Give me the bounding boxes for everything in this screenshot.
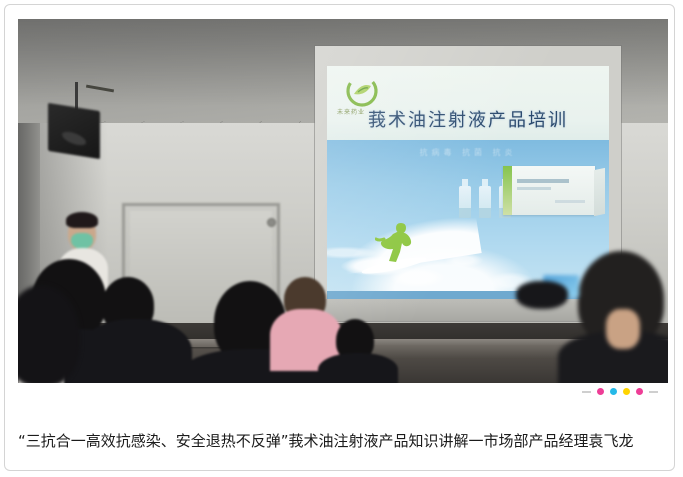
phone-holding-hand bbox=[516, 281, 568, 309]
carousel-pagination[interactable] bbox=[582, 388, 658, 395]
product-box-graphic bbox=[503, 166, 595, 215]
page-frame: 未来药业 莪术油注射液产品培训 抗病毒 抗菌 抗炎 bbox=[4, 4, 675, 471]
slide: 未来药业 莪术油注射液产品培训 抗病毒 抗菌 抗炎 bbox=[327, 66, 609, 299]
whiteboard-knob-icon bbox=[267, 218, 276, 227]
wall-speaker bbox=[48, 103, 100, 159]
product-box-text-line bbox=[517, 187, 551, 190]
product-box-accent bbox=[503, 166, 512, 215]
pagination-leading-dash bbox=[582, 391, 591, 393]
slide-subtitle: 抗病毒 抗菌 抗炎 bbox=[327, 147, 609, 158]
product-box-text-line bbox=[555, 200, 585, 203]
product-box-text-line bbox=[517, 179, 569, 183]
slide-title: 莪术油注射液产品培训 bbox=[327, 106, 609, 132]
pagination-dot-1[interactable] bbox=[597, 388, 604, 395]
speaker-cone-icon bbox=[62, 129, 86, 148]
presenter-hair bbox=[66, 212, 98, 228]
surfer-silhouette-icon bbox=[375, 221, 421, 263]
pagination-dot-4[interactable] bbox=[636, 388, 643, 395]
face-mask-icon bbox=[71, 233, 93, 249]
slide-header: 未来药业 莪术油注射液产品培训 bbox=[327, 66, 609, 143]
vial-icon bbox=[459, 186, 471, 218]
pagination-dot-2[interactable] bbox=[610, 388, 617, 395]
pagination-dot-3[interactable] bbox=[623, 388, 630, 395]
speaker-bracket-icon bbox=[75, 82, 78, 110]
audience-member-body bbox=[80, 319, 192, 383]
foreground-attendee-neck bbox=[606, 309, 640, 349]
screen-bottom-strip bbox=[315, 299, 621, 321]
audience-member-body bbox=[318, 353, 398, 383]
pagination-trailing-dash bbox=[649, 391, 658, 393]
photo-caption: “三抗合一高效抗感染、安全退热不反弹”莪术油注射液产品知识讲解一市场部产品经理袁… bbox=[18, 429, 668, 454]
product-box-side bbox=[594, 168, 605, 216]
presentation-photo[interactable]: 未来药业 莪术油注射液产品培训 抗病毒 抗菌 抗炎 bbox=[18, 19, 668, 383]
vial-icon bbox=[479, 186, 491, 218]
